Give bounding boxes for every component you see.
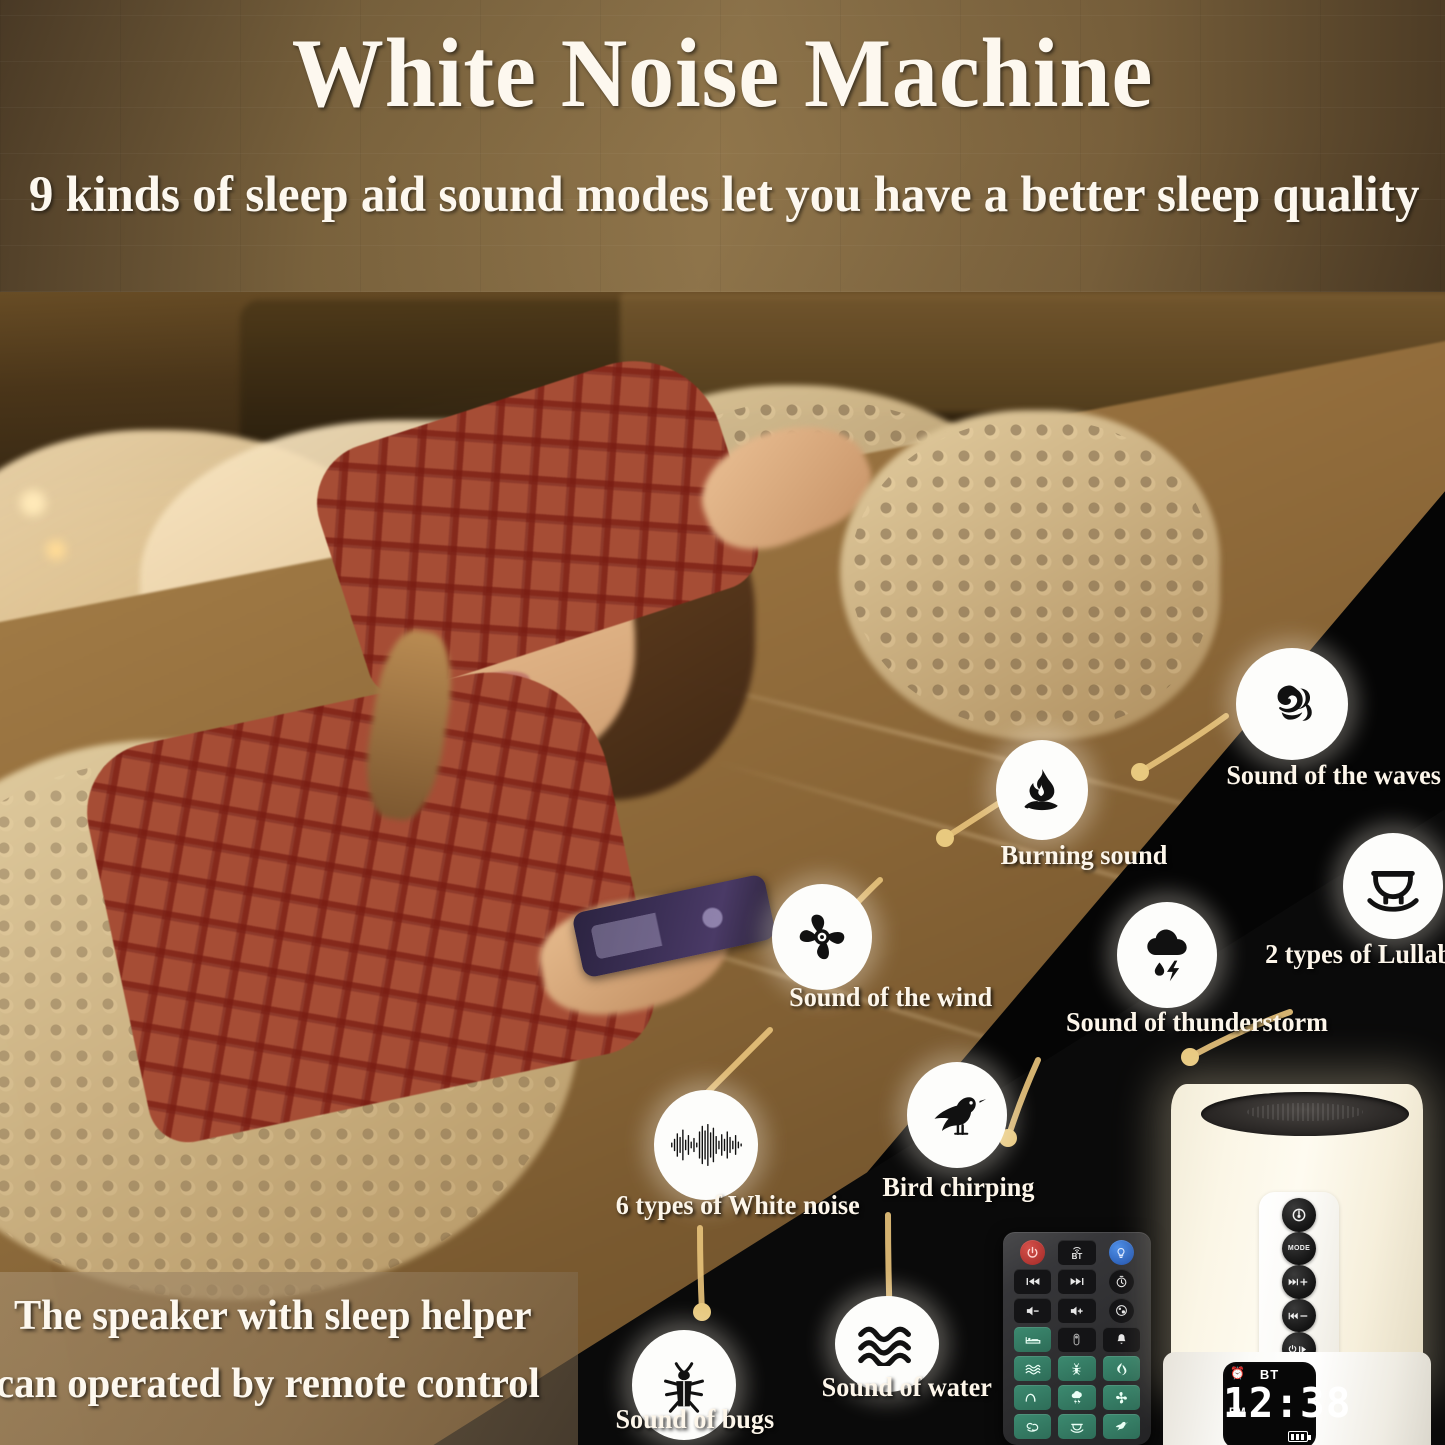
page-title: White Noise Machine	[51, 22, 1395, 126]
remote-volume-down-button[interactable]	[1014, 1298, 1051, 1323]
bottom-caption: The speaker with sleep helper can operat…	[0, 1272, 578, 1445]
sound-mode-water-label: Sound of water	[822, 1372, 992, 1403]
cradle-icon	[1343, 833, 1443, 939]
color-palette-icon	[1115, 1304, 1128, 1317]
sound-mode-white-noise-label: 6 types of White noise	[616, 1190, 860, 1221]
remote-light-button[interactable]	[1109, 1240, 1134, 1265]
bird-icon	[1114, 1420, 1128, 1433]
fan-blade-icon	[1115, 1391, 1128, 1404]
remote-noise-mode-button[interactable]	[1014, 1385, 1051, 1410]
remote-sleep-mode-button[interactable]	[1014, 1327, 1051, 1352]
sound-mode-waves-label: Sound of the waves	[1226, 760, 1441, 791]
remote-control[interactable]: BT	[1003, 1232, 1151, 1445]
remote-color-cycle-button[interactable]	[1109, 1298, 1134, 1323]
bed-icon	[1025, 1334, 1041, 1346]
wave-swirl-icon	[1236, 648, 1348, 760]
sound-mode-bird-label: Bird chirping	[882, 1172, 1034, 1203]
sound-mode-wind-label: Sound of the wind	[789, 982, 992, 1013]
remote-bird-mode-button[interactable]	[1103, 1414, 1140, 1439]
sound-mode-burning-label: Burning sound	[1001, 840, 1168, 871]
sound-mode-thunderstorm-label: Sound of thunderstorm	[1066, 1007, 1328, 1038]
remote-water-mode-button[interactable]	[1014, 1356, 1051, 1381]
speaker-light-power-button[interactable]	[1282, 1198, 1316, 1232]
night-light-icon	[1072, 1333, 1081, 1346]
volume-down-icon	[1025, 1305, 1040, 1317]
bell-icon	[1115, 1333, 1128, 1346]
remote-bluetooth-button[interactable]: BT	[1058, 1240, 1095, 1265]
cradle-icon	[1070, 1421, 1084, 1433]
water-waves-icon	[1025, 1363, 1041, 1375]
cloud-lightning-icon	[1117, 902, 1217, 1008]
prev-volume-down-icon	[1288, 1311, 1310, 1321]
speaker-next-volume-up-button[interactable]	[1282, 1265, 1316, 1299]
previous-track-icon	[1026, 1276, 1040, 1287]
remote-volume-up-button[interactable]	[1058, 1298, 1095, 1323]
fairy-light-1	[20, 490, 46, 516]
remote-storm-mode-button[interactable]	[1058, 1385, 1095, 1410]
fan-blade-icon	[772, 884, 872, 990]
remote-wave-mode-button[interactable]	[1014, 1414, 1051, 1439]
remote-lullaby-mode-button[interactable]	[1058, 1414, 1095, 1439]
caption-line-2: can operated by remote control	[0, 1360, 540, 1408]
flame-icon	[1116, 1362, 1127, 1376]
remote-power-button[interactable]	[1020, 1240, 1045, 1265]
pillow-right-texture	[850, 420, 1210, 730]
remote-night-light-button[interactable]	[1058, 1327, 1095, 1352]
sound-mode-bugs-label: Sound of bugs	[615, 1404, 774, 1435]
next-volume-up-icon	[1288, 1277, 1310, 1287]
speaker-prev-volume-down-button[interactable]	[1282, 1299, 1316, 1333]
header-banner: White Noise Machine 9 kinds of sleep aid…	[0, 0, 1445, 292]
speaker-mode-button[interactable]: MODE	[1282, 1232, 1316, 1266]
speaker-mode-label: MODE	[1288, 1245, 1310, 1252]
remote-bluetooth-label: BT	[1072, 1253, 1083, 1261]
white-noise-speaker[interactable]: MODE	[1163, 1062, 1431, 1445]
sound-mode-lullaby-label: 2 types of Lullaby	[1265, 939, 1445, 970]
remote-fire-mode-button[interactable]	[1103, 1356, 1140, 1381]
campfire-icon	[996, 740, 1088, 840]
remote-timer-button[interactable]	[1109, 1269, 1134, 1294]
remote-button-grid: BT	[1014, 1240, 1140, 1439]
sine-wave-icon	[1025, 1392, 1041, 1404]
battery-icon	[1288, 1431, 1308, 1442]
remote-next-button[interactable]	[1058, 1269, 1095, 1294]
timer-icon	[1115, 1275, 1128, 1288]
remote-bugs-mode-button[interactable]	[1058, 1356, 1095, 1381]
product-poster: White Noise Machine 9 kinds of sleep aid…	[0, 0, 1445, 1445]
caption-line-1: The speaker with sleep helper	[14, 1292, 532, 1340]
fairy-light-2	[46, 540, 66, 560]
cloud-lightning-icon	[1070, 1391, 1084, 1404]
volume-up-icon	[1069, 1305, 1084, 1317]
speaker-control-panel[interactable]: MODE	[1259, 1192, 1339, 1372]
remote-alarm-button[interactable]	[1103, 1327, 1140, 1352]
speaker-grille-top	[1201, 1092, 1409, 1136]
next-track-icon	[1070, 1276, 1084, 1287]
bird-icon	[907, 1062, 1007, 1168]
bulb-icon	[1115, 1247, 1127, 1259]
beetle-icon	[1070, 1362, 1083, 1375]
wave-swirl-icon	[1025, 1421, 1040, 1433]
remote-previous-button[interactable]	[1014, 1269, 1051, 1294]
page-subtitle: 9 kinds of sleep aid sound modes let you…	[29, 166, 1416, 224]
remote-fan-mode-button[interactable]	[1103, 1385, 1140, 1410]
waveform-icon	[654, 1090, 758, 1200]
display-time: 12:38	[1223, 1383, 1316, 1424]
speaker-display: ⏰ BT PM 12:38	[1223, 1362, 1316, 1445]
light-power-icon	[1291, 1207, 1307, 1223]
speaker-body: MODE	[1171, 1084, 1423, 1384]
